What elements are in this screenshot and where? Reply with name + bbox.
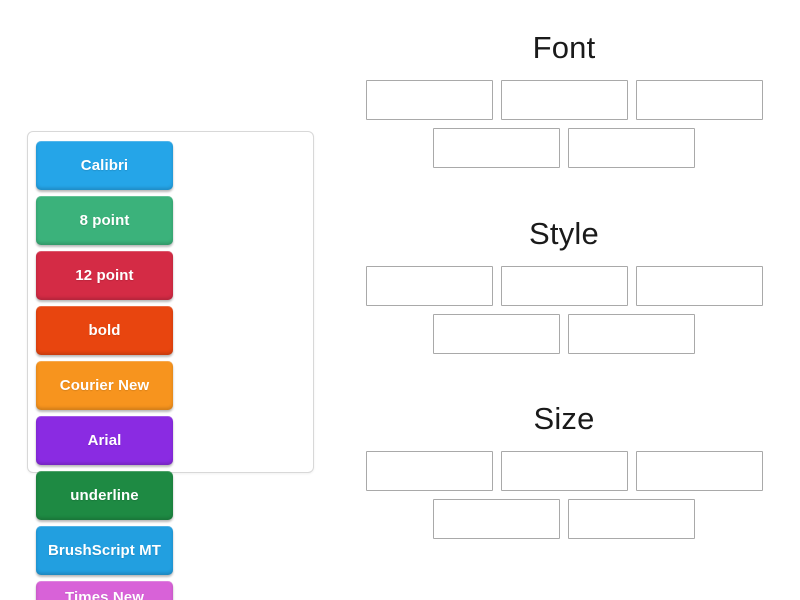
category-style: Style <box>352 214 776 354</box>
tile-grid: Calibri8 point12 pointboldCourier NewAri… <box>33 138 308 600</box>
drop-slot-style-2[interactable] <box>501 266 628 306</box>
draggable-tile[interactable]: bold <box>36 306 173 355</box>
draggable-tile[interactable]: Calibri <box>36 141 173 190</box>
drop-slot-style-4[interactable] <box>433 314 560 354</box>
draggable-tile[interactable]: 8 point <box>36 196 173 245</box>
category-title-font: Font <box>352 28 776 68</box>
drop-slot-font-3[interactable] <box>636 80 763 120</box>
word-bank-tray: Calibri8 point12 pointboldCourier NewAri… <box>27 131 314 473</box>
draggable-tile[interactable]: underline <box>36 471 173 520</box>
drop-slot-size-4[interactable] <box>433 499 560 539</box>
draggable-tile[interactable]: BrushScript MT <box>36 526 173 575</box>
drop-slot-font-5[interactable] <box>568 128 695 168</box>
draggable-tile[interactable]: Arial <box>36 416 173 465</box>
slot-row-font-1 <box>352 80 776 120</box>
category-size: Size <box>352 399 776 539</box>
drop-slot-style-5[interactable] <box>568 314 695 354</box>
drop-slot-font-1[interactable] <box>366 80 493 120</box>
drop-slot-size-5[interactable] <box>568 499 695 539</box>
slot-row-style-2 <box>352 314 776 354</box>
draggable-tile[interactable]: 12 point <box>36 251 173 300</box>
drop-slot-size-1[interactable] <box>366 451 493 491</box>
draggable-tile[interactable]: Courier New <box>36 361 173 410</box>
draggable-tile[interactable]: Times New Roman <box>36 581 173 600</box>
drop-slot-style-1[interactable] <box>366 266 493 306</box>
category-font: Font <box>352 28 776 168</box>
drop-slot-font-2[interactable] <box>501 80 628 120</box>
slot-row-style-1 <box>352 266 776 306</box>
drop-slot-style-3[interactable] <box>636 266 763 306</box>
category-title-size: Size <box>352 399 776 439</box>
sorting-activity-board: Calibri8 point12 pointboldCourier NewAri… <box>0 0 800 600</box>
slot-row-font-2 <box>352 128 776 168</box>
slot-row-size-1 <box>352 451 776 491</box>
category-title-style: Style <box>352 214 776 254</box>
drop-slot-size-2[interactable] <box>501 451 628 491</box>
drop-slot-font-4[interactable] <box>433 128 560 168</box>
slot-row-size-2 <box>352 499 776 539</box>
drop-slot-size-3[interactable] <box>636 451 763 491</box>
